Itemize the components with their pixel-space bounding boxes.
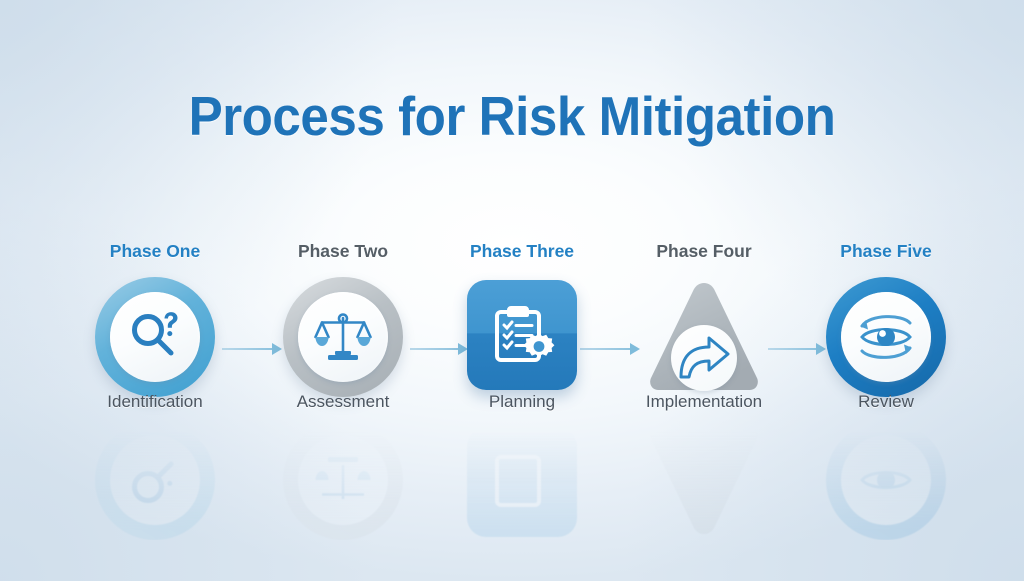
reflection-two — [248, 420, 438, 540]
caption-five: Review — [791, 392, 981, 412]
phase-label-three: Phase Three — [427, 240, 617, 262]
reflection-inner — [841, 435, 931, 525]
caption-two: Assessment — [248, 392, 438, 412]
badge-inner — [841, 292, 931, 382]
reflection-inner — [298, 435, 388, 525]
badge-five[interactable] — [791, 277, 981, 407]
badge-three[interactable] — [427, 277, 617, 407]
reflection-three — [427, 420, 617, 540]
reflection-five — [791, 420, 981, 540]
eye-refresh-icon — [852, 306, 920, 368]
clipboard-checklist-gear-icon-reflection — [484, 444, 560, 520]
caption-four: Implementation — [609, 392, 799, 412]
circle-badge-blue — [95, 277, 215, 397]
caption-one: Identification — [60, 392, 250, 412]
circle-badge-deep-blue — [826, 277, 946, 397]
reflection-four — [609, 420, 799, 540]
phase-label-five: Phase Five — [791, 240, 981, 262]
process-step-one[interactable]: Phase One — [60, 240, 250, 407]
badge-four[interactable] — [609, 277, 799, 407]
infographic-canvas: Process for Risk Mitigation Phase One — [0, 0, 1024, 581]
process-step-three[interactable]: Phase Three — [427, 240, 617, 407]
phase-label-two: Phase Two — [248, 240, 438, 262]
magnifier-question-icon — [124, 306, 186, 368]
rounded-triangle-shape-reflection — [642, 420, 766, 540]
square-badge-blue — [467, 280, 577, 390]
reflection-shape — [467, 427, 577, 537]
circle-badge-gray — [283, 277, 403, 397]
balance-scales-icon — [313, 308, 373, 366]
eye-refresh-icon-reflection — [852, 449, 920, 511]
caption-three: Planning — [427, 392, 617, 412]
reflection-shape — [826, 420, 946, 540]
badge-two[interactable] — [248, 277, 438, 407]
process-step-two[interactable]: Phase Two — [248, 240, 438, 407]
clipboard-checklist-gear-icon — [484, 297, 560, 373]
process-step-five[interactable]: Phase Five — [791, 240, 981, 407]
page-title: Process for Risk Mitigation — [36, 84, 988, 148]
reflection-one — [60, 420, 250, 540]
curved-forward-arrow-icon — [677, 335, 731, 381]
reflection-shape — [283, 420, 403, 540]
reflection-inner — [110, 435, 200, 525]
process-step-four[interactable]: Phase Four — [609, 240, 799, 407]
badge-inner — [110, 292, 200, 382]
badge-one[interactable] — [60, 277, 250, 407]
phase-label-one: Phase One — [60, 240, 250, 262]
triangle-icon-disc — [671, 325, 737, 391]
badge-inner — [298, 292, 388, 382]
reflection-shape — [95, 420, 215, 540]
phase-label-four: Phase Four — [609, 240, 799, 262]
magnifier-question-icon-reflection — [124, 449, 186, 511]
balance-scales-icon-reflection — [313, 451, 373, 509]
reflection-shape — [642, 420, 766, 540]
triangle-badge-gray — [642, 277, 766, 397]
